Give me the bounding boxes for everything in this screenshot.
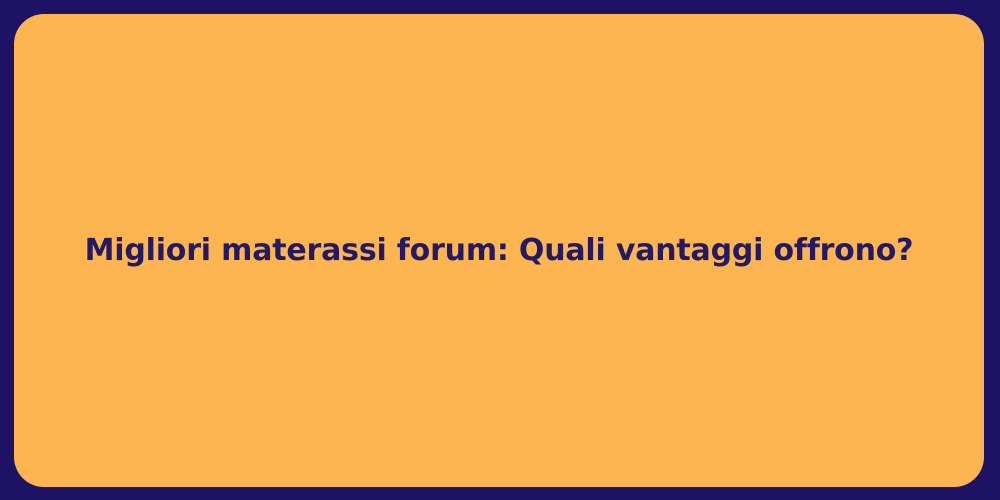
banner-root: Migliori materassi forum: Quali vantaggi… (0, 0, 1000, 500)
title-card: Migliori materassi forum: Quali vantaggi… (14, 14, 984, 487)
page-title: Migliori materassi forum: Quali vantaggi… (45, 232, 954, 270)
